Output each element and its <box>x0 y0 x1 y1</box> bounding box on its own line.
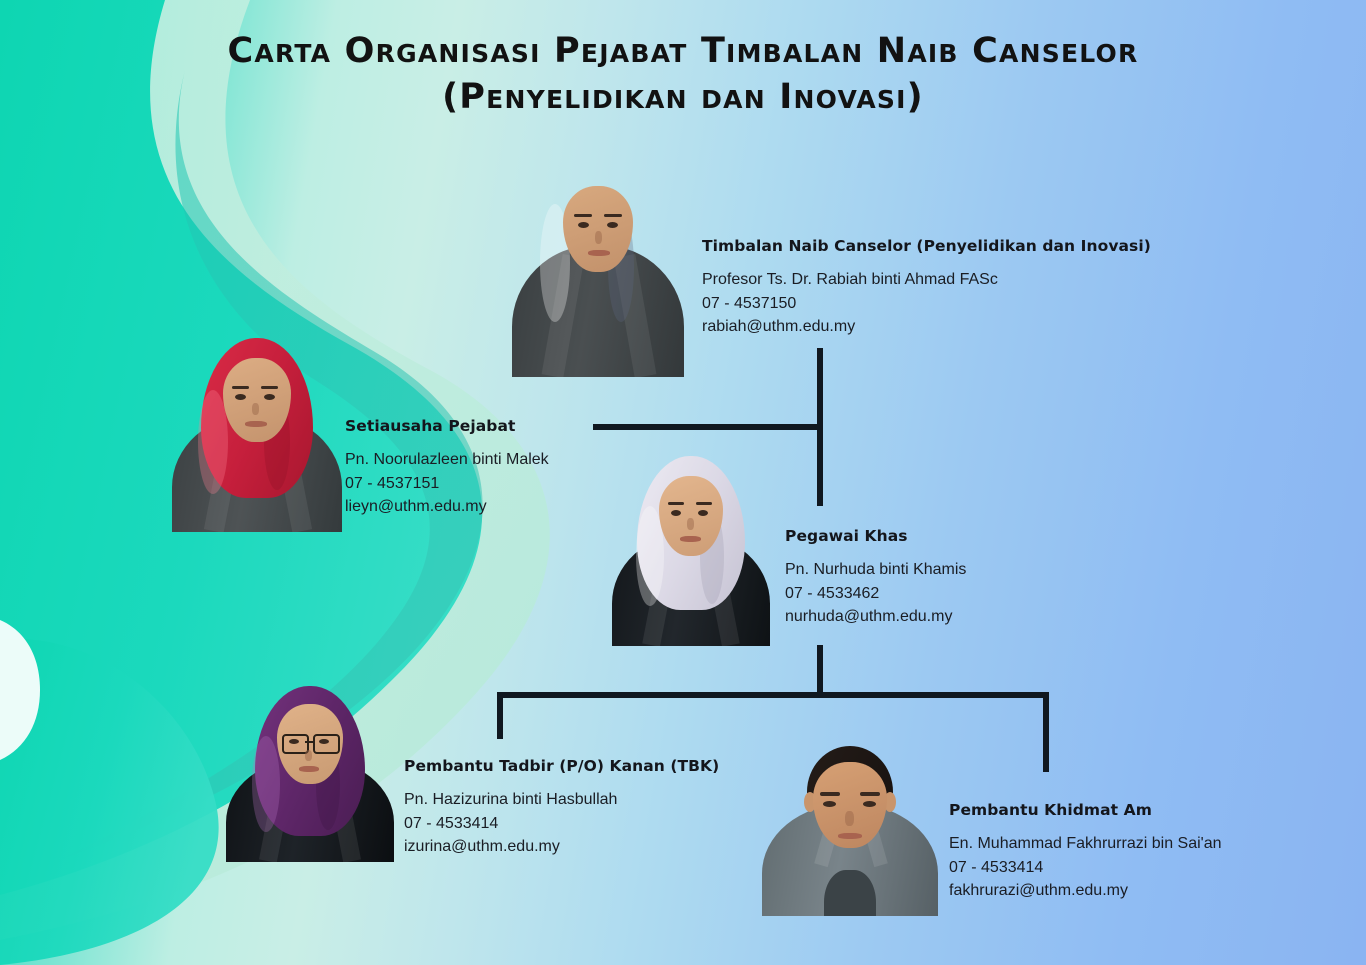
eyeglasses-icon <box>313 734 340 754</box>
portrait-noorulazleen <box>172 332 342 532</box>
connector-pembantu-khidmat-drop <box>1043 692 1049 772</box>
portrait-fakhrurrazi <box>762 738 938 916</box>
node-info-tnc: Timbalan Naib Canselor (Penyelidikan dan… <box>702 237 1151 339</box>
portrait-rabiah <box>512 152 684 377</box>
node-name-pegawai-khas: Pn. Nurhuda binti Khamis <box>785 558 966 582</box>
node-name-setiausaha: Pn. Noorulazleen binti Malek <box>345 448 549 472</box>
node-phone-tnc: 07 - 4537150 <box>702 292 1151 316</box>
node-email-pembantu-khidmat[interactable]: fakhrurazi@uthm.edu.my <box>949 879 1222 903</box>
poster-title: Carta Organisasi Pejabat Timbalan Naib C… <box>0 28 1366 120</box>
node-title-pembantu-tadbir: Pembantu Tadbir (P/O) Kanan (TBK) <box>404 757 719 775</box>
connector-pembantu-tadbir-drop <box>497 692 503 739</box>
connector-setiausaha-horizontal <box>593 424 823 430</box>
node-name-tnc: Profesor Ts. Dr. Rabiah binti Ahmad FASc <box>702 268 1151 292</box>
node-details-tnc: Profesor Ts. Dr. Rabiah binti Ahmad FASc… <box>702 268 1151 339</box>
node-info-pembantu-tadbir: Pembantu Tadbir (P/O) Kanan (TBK) Pn. Ha… <box>404 757 719 859</box>
node-email-setiausaha[interactable]: lieyn@uthm.edu.my <box>345 495 549 519</box>
connector-bottom-horizontal <box>497 692 1049 698</box>
node-phone-pegawai-khas: 07 - 4533462 <box>785 582 966 606</box>
node-info-setiausaha: Setiausaha Pejabat Pn. Noorulazleen bint… <box>345 417 549 519</box>
node-info-pembantu-khidmat: Pembantu Khidmat Am En. Muhammad Fakhrur… <box>949 801 1222 903</box>
portrait-hazizurina <box>226 682 394 862</box>
title-line-1: Carta Organisasi Pejabat Timbalan Naib C… <box>0 28 1366 74</box>
node-title-tnc: Timbalan Naib Canselor (Penyelidikan dan… <box>702 237 1151 255</box>
portrait-nurhuda <box>612 452 770 646</box>
node-email-pembantu-tadbir[interactable]: izurina@uthm.edu.my <box>404 835 719 859</box>
node-phone-pembantu-khidmat: 07 - 4533414 <box>949 856 1222 880</box>
node-name-pembantu-khidmat: En. Muhammad Fakhrurrazi bin Sai'an <box>949 832 1222 856</box>
node-details-pegawai-khas: Pn. Nurhuda binti Khamis 07 - 4533462 nu… <box>785 558 966 629</box>
connector-pegawai-khas-vertical <box>817 645 823 698</box>
title-line-2: (Penyelidikan dan Inovasi) <box>0 74 1366 120</box>
node-phone-setiausaha: 07 - 4537151 <box>345 472 549 496</box>
node-title-pembantu-khidmat: Pembantu Khidmat Am <box>949 801 1222 819</box>
node-email-pegawai-khas[interactable]: nurhuda@uthm.edu.my <box>785 605 966 629</box>
node-details-pembantu-khidmat: En. Muhammad Fakhrurrazi bin Sai'an 07 -… <box>949 832 1222 903</box>
node-phone-pembantu-tadbir: 07 - 4533414 <box>404 812 719 836</box>
node-title-setiausaha: Setiausaha Pejabat <box>345 417 549 435</box>
organisation-chart-poster: Carta Organisasi Pejabat Timbalan Naib C… <box>0 0 1366 965</box>
node-title-pegawai-khas: Pegawai Khas <box>785 527 966 545</box>
node-details-pembantu-tadbir: Pn. Hazizurina binti Hasbullah 07 - 4533… <box>404 788 719 859</box>
node-details-setiausaha: Pn. Noorulazleen binti Malek 07 - 453715… <box>345 448 549 519</box>
node-name-pembantu-tadbir: Pn. Hazizurina binti Hasbullah <box>404 788 719 812</box>
node-info-pegawai-khas: Pegawai Khas Pn. Nurhuda binti Khamis 07… <box>785 527 966 629</box>
node-email-tnc[interactable]: rabiah@uthm.edu.my <box>702 315 1151 339</box>
